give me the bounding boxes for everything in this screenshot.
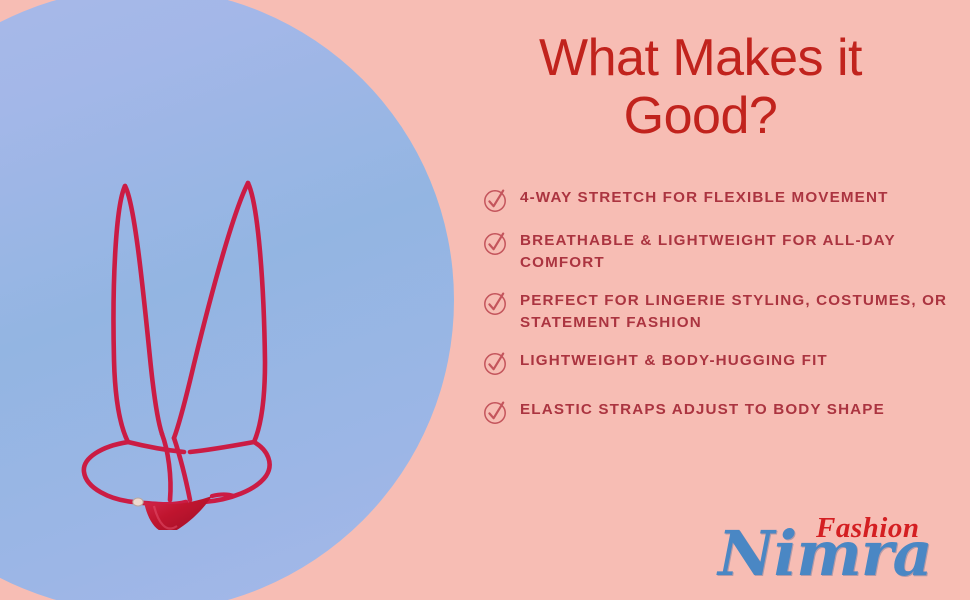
brand-logo: Nimra Fashion [718,496,948,592]
list-item: Elastic Straps Adjust to Body Shape [482,398,952,425]
feature-label: Elastic Straps Adjust to Body Shape [520,398,885,421]
brand-tagline: Fashion [816,512,919,545]
list-item: Lightweight & Body-Hugging Fit [482,349,952,376]
page-title: What Makes it Good? [478,29,923,145]
list-item: Breathable & Lightweight for All-Day Com… [482,229,952,273]
product-feature-banner: What Makes it Good? 4-Way Stretch for Fl… [0,0,970,600]
list-item: 4-Way Stretch for Flexible Movement [482,186,952,213]
feature-label: Perfect for Lingerie Styling, Costumes, … [520,289,952,333]
feature-label: Lightweight & Body-Hugging Fit [520,349,828,372]
check-circle-icon [482,350,508,376]
feature-label: Breathable & Lightweight for All-Day Com… [520,229,952,273]
check-circle-icon [482,399,508,425]
product-image [62,150,332,530]
feature-list: 4-Way Stretch for Flexible Movement Brea… [482,186,952,441]
list-item: Perfect for Lingerie Styling, Costumes, … [482,289,952,333]
check-circle-icon [482,290,508,316]
check-circle-icon [482,187,508,213]
feature-label: 4-Way Stretch for Flexible Movement [520,186,889,209]
check-circle-icon [482,230,508,256]
